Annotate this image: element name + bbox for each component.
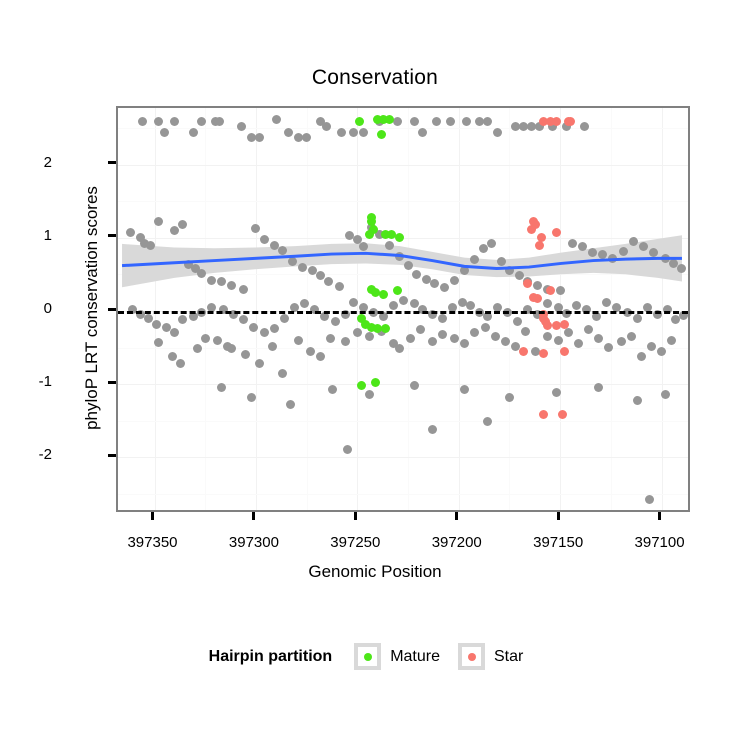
x-tick-label: 397100 [600,534,720,551]
page-title: Conservation [0,66,750,90]
legend-label: Mature [390,648,440,666]
x-tick-mark [151,512,154,520]
chart-root: Conservation phyloP LRT conservation sco… [0,0,750,750]
loess-smooth-line [118,108,688,510]
y-axis-title: phyloP LRT conservation scores [82,98,102,518]
y-tick-label: 1 [0,227,52,244]
x-axis-title: Genomic Position [0,562,750,582]
x-tick-mark [658,512,661,520]
legend-dot-icon [364,653,372,661]
x-tick-mark [455,512,458,520]
y-tick-mark [108,234,116,237]
zero-reference-line [118,311,688,314]
legend-entry-mature[interactable]: Mature [354,643,440,670]
y-tick-label: 0 [0,300,52,317]
y-tick-label: -2 [0,446,52,463]
y-tick-mark [108,161,116,164]
x-tick-mark [354,512,357,520]
legend-key-box [354,643,381,670]
legend-title: Hairpin partition [209,648,333,666]
smooth-line-path [122,253,682,268]
x-tick-mark [252,512,255,520]
y-tick-mark [108,454,116,457]
y-tick-mark [108,308,116,311]
plot-panel [116,106,690,512]
y-tick-mark [108,381,116,384]
legend: Hairpin partition MatureStar [0,643,750,670]
x-tick-mark [557,512,560,520]
legend-entries: MatureStar [354,643,541,670]
y-tick-label: 2 [0,154,52,171]
legend-dot-icon [468,653,476,661]
legend-key-box [458,643,485,670]
legend-label: Star [494,648,523,666]
legend-entry-star[interactable]: Star [458,643,523,670]
y-tick-label: -1 [0,373,52,390]
